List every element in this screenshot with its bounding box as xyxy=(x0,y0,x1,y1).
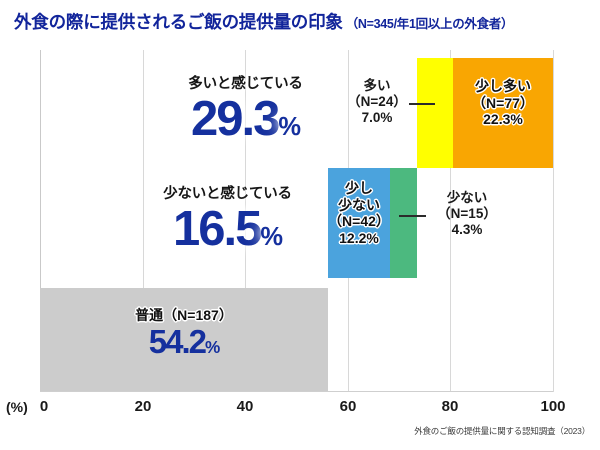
bar-label-line-1: 少し xyxy=(328,180,390,197)
bar-label-futsuu: 普通（N=187） 54.2% xyxy=(40,307,328,358)
title-text: 外食の際に提供されるご飯の提供量の印象 xyxy=(14,12,343,32)
highlight-few: 少ないと感じている 16.5% xyxy=(130,182,325,254)
highlight-few-caption: 少ないと感じている xyxy=(130,182,325,203)
highlight-many: 多いと感じている 29.3% xyxy=(148,72,343,144)
bar-label-line-4: 12.2% xyxy=(328,230,390,247)
leader-line-sukunai xyxy=(399,215,426,217)
callout-ooi-line-2: （N=24） xyxy=(345,94,409,110)
axis-tick-20: 20 xyxy=(123,398,163,415)
bar-label-futsuu-pct: % xyxy=(205,337,219,357)
bar-label-futsuu-text: 普通（N=187） xyxy=(40,307,328,324)
callout-sukunai: 少ない （N=15） 4.3% xyxy=(428,190,506,239)
highlight-many-value: 29.3% xyxy=(148,95,343,144)
gridline-100 xyxy=(553,50,554,392)
axis-tick-60: 60 xyxy=(328,398,368,415)
bar-label-line-2: 少ない xyxy=(328,197,390,214)
bar-label-sukoshi-sukunai: 少し 少ない （N=42） 12.2% xyxy=(328,180,390,246)
bar-label-futsuu-value: 54.2% xyxy=(40,325,328,358)
axis-line-x xyxy=(40,391,553,392)
highlight-few-number: 16.5 xyxy=(173,202,260,256)
axis-tick-80: 80 xyxy=(430,398,470,415)
callout-sukunai-line-1: 少ない xyxy=(428,190,506,206)
bar-label-line-2: （N=77） xyxy=(453,95,553,112)
title-sample-note: （N=345/年1回以上の外食者） xyxy=(346,17,514,31)
bar-label-line-1: 少し多い xyxy=(453,78,553,95)
highlight-many-pct: % xyxy=(278,113,300,141)
axis-tick-0: 0 xyxy=(24,398,64,415)
highlight-few-value: 16.5% xyxy=(130,205,325,254)
axis-tick-40: 40 xyxy=(225,398,265,415)
bar-label-line-3: 22.3% xyxy=(453,111,553,128)
bar-label-futsuu-number: 54.2 xyxy=(149,323,205,360)
callout-ooi-line-3: 7.0% xyxy=(345,110,409,126)
page-title: 外食の際に提供されるご飯の提供量の印象（N=345/年1回以上の外食者） xyxy=(14,9,513,34)
callout-sukunai-line-3: 4.3% xyxy=(428,222,506,238)
chart-canvas: 外食の際に提供されるご飯の提供量の印象（N=345/年1回以上の外食者） 少し多… xyxy=(0,0,600,450)
leader-line-ooi xyxy=(409,103,435,105)
bar-segment-sukunai[interactable] xyxy=(390,168,417,278)
callout-ooi: 多い （N=24） 7.0% xyxy=(345,78,409,127)
callout-ooi-line-1: 多い xyxy=(345,78,409,94)
bar-label-line-3: （N=42） xyxy=(328,213,390,230)
callout-sukunai-line-2: （N=15） xyxy=(428,206,506,222)
highlight-many-number: 29.3 xyxy=(191,92,278,146)
bar-label-sukoshi-ooi: 少し多い （N=77） 22.3% xyxy=(453,78,553,128)
highlight-many-caption: 多いと感じている xyxy=(148,72,343,93)
highlight-few-pct: % xyxy=(260,223,282,251)
bar-segment-ooi[interactable] xyxy=(417,58,453,168)
axis-tick-100: 100 xyxy=(533,398,573,415)
source-note: 外食のご飯の提供量に関する認知調査（2023） xyxy=(414,425,590,437)
